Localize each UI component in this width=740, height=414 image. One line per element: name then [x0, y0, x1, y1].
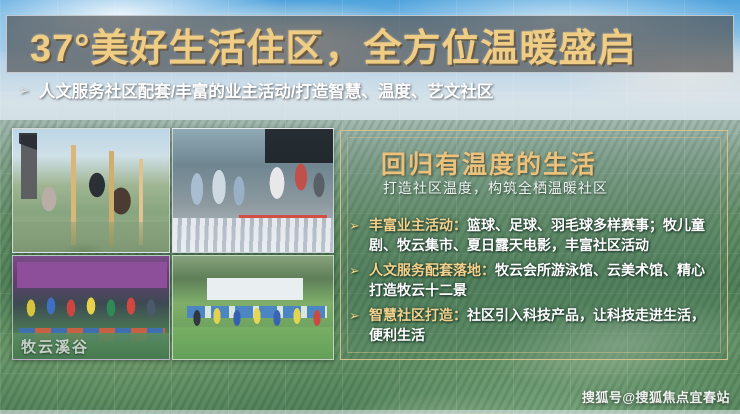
- panel-subtitle: 打造社区温度，构筑全栖温暖社区: [383, 178, 608, 198]
- page-subtitle-text: 人文服务社区配套/丰富的业主活动/打造智慧、温度、艺文社区: [39, 78, 494, 102]
- photo-group-football-pitch: 足球赛事合影: [172, 255, 334, 360]
- list-item-text: 智慧社区打造：社区引入科技产品，让科技走进生活，便利生活: [369, 305, 717, 345]
- photo-collage: 户外写生活动 社区户外活动 业主赛事合影 牧云溪谷 足球赛事合影: [12, 128, 334, 360]
- list-item-text: 丰富业主活动：篮球、足球、羽毛球多样赛事；牧儿童剧、牧云集市、夏日露天电影，丰富…: [369, 215, 717, 255]
- list-item-keyword: 智慧社区打造：: [369, 307, 467, 323]
- list-item-keyword: 人文服务配套落地：: [369, 262, 495, 278]
- list-item: ➢ 智慧社区打造：社区引入科技产品，让科技走进生活，便利生活: [349, 305, 717, 345]
- chevron-right-icon: ➢: [349, 305, 363, 326]
- list-item-keyword: 丰富业主活动：: [369, 217, 467, 233]
- photo-easel-painting: 户外写生活动: [12, 128, 170, 253]
- bottom-strip: [0, 410, 740, 414]
- panel-title: 回归有温度的生活: [381, 145, 597, 181]
- photo-inner-watermark: 牧云溪谷: [21, 336, 89, 357]
- page-title: 37°美好生活住区，全方位温暖盛启: [30, 16, 720, 72]
- chevron-right-icon: ➢: [18, 82, 30, 99]
- list-item-text: 人文服务配套落地：牧云会所游泳馆、云美术馆、精心打造牧云十二景: [369, 260, 717, 300]
- chevron-right-icon: ➢: [349, 215, 363, 236]
- source-watermark: 搜狐号@搜狐焦点宜春站: [582, 387, 730, 406]
- info-panel: 回归有温度的生活 打造社区温度，构筑全栖温暖社区 ➢ 丰富业主活动：篮球、足球、…: [340, 130, 728, 360]
- page-subtitle: ➢ 人文服务社区配套/丰富的业主活动/打造智慧、温度、艺文社区: [18, 76, 718, 104]
- list-item: ➢ 人文服务配套落地：牧云会所游泳馆、云美术馆、精心打造牧云十二景: [349, 260, 717, 300]
- panel-bullet-list: ➢ 丰富业主活动：篮球、足球、羽毛球多样赛事；牧儿童剧、牧云集市、夏日露天电影，…: [349, 215, 717, 350]
- list-item: ➢ 丰富业主活动：篮球、足球、羽毛球多样赛事；牧儿童剧、牧云集市、夏日露天电影，…: [349, 215, 717, 255]
- slide-canvas: 37°美好生活住区，全方位温暖盛启 ➢ 人文服务社区配套/丰富的业主活动/打造智…: [0, 0, 740, 414]
- photo-group-indoor-court: 业主赛事合影 牧云溪谷: [12, 255, 170, 360]
- photo-outdoor-crowd: 社区户外活动: [172, 128, 334, 253]
- chevron-right-icon: ➢: [349, 260, 363, 281]
